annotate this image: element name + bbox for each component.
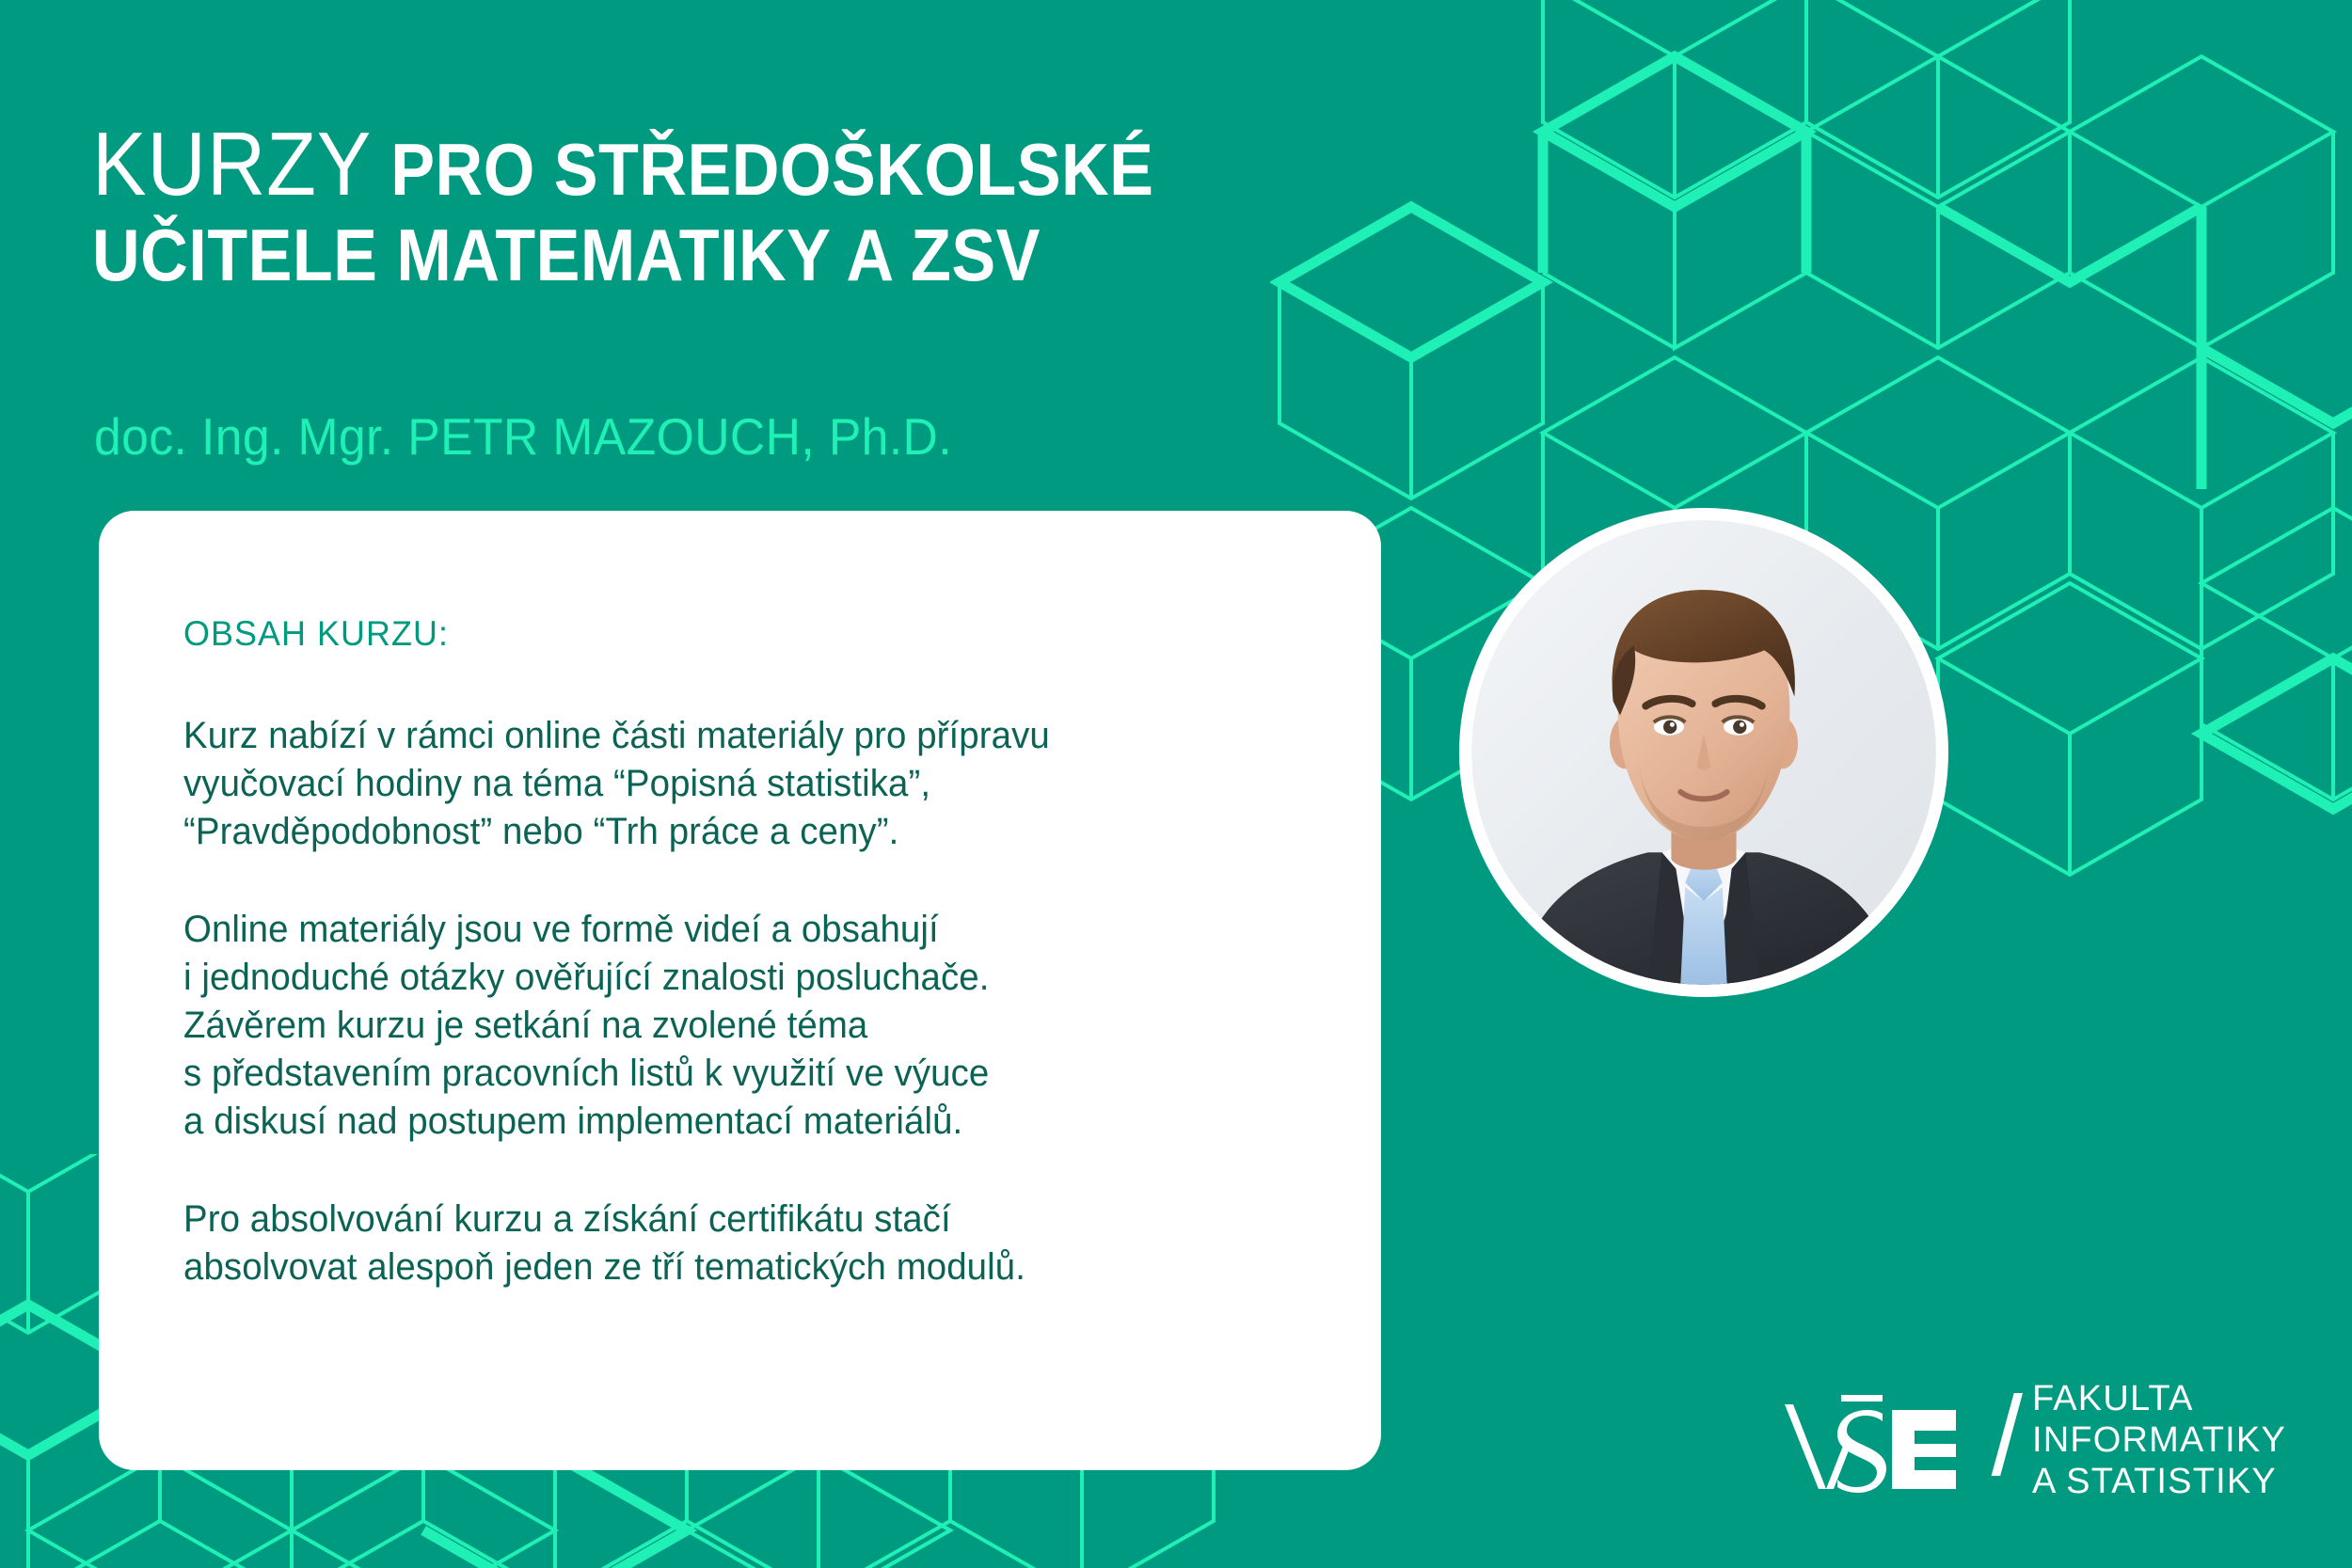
headline-line2: UČITELE MATEMATIKY A ZSV <box>92 217 1278 293</box>
headline-strong: KURZY <box>92 114 372 214</box>
avatar <box>1459 508 1948 997</box>
card-paragraph-3: Pro absolvování kurzu a získání certifik… <box>183 1196 1297 1291</box>
headline-rest: PRO STŘEDOŠKOLSKÉ <box>372 128 1153 211</box>
author-name: doc. Ing. Mgr. PETR MAZOUCH, Ph.D. <box>94 406 952 467</box>
card-paragraph-2: Online materiály jsou ve formě videí a o… <box>183 906 1297 1145</box>
card-inner: OBSAH KURZU: Kurz nabízí v rámci online … <box>183 614 1343 1291</box>
page-title: KURZY PRO STŘEDOŠKOLSKÉ UČITELE MATEMATI… <box>92 119 1278 293</box>
poster-root: KURZY PRO STŘEDOŠKOLSKÉ UČITELE MATEMATI… <box>0 0 2352 1568</box>
portrait-photo <box>1471 520 1936 985</box>
vse-logo-mark-icon <box>1781 1384 1979 1497</box>
content-card: OBSAH KURZU: Kurz nabízí v rámci online … <box>99 511 1381 1470</box>
vse-logo: / FAKULTA INFORMATIKY A STATISTIKY <box>1781 1378 2286 1502</box>
card-title: OBSAH KURZU: <box>183 614 1309 654</box>
logo-faculty-name: FAKULTA INFORMATIKY A STATISTIKY <box>2032 1378 2286 1502</box>
card-paragraph-1: Kurz nabízí v rámci online části materiá… <box>183 712 1297 855</box>
logo-slash: / <box>1992 1391 2023 1481</box>
